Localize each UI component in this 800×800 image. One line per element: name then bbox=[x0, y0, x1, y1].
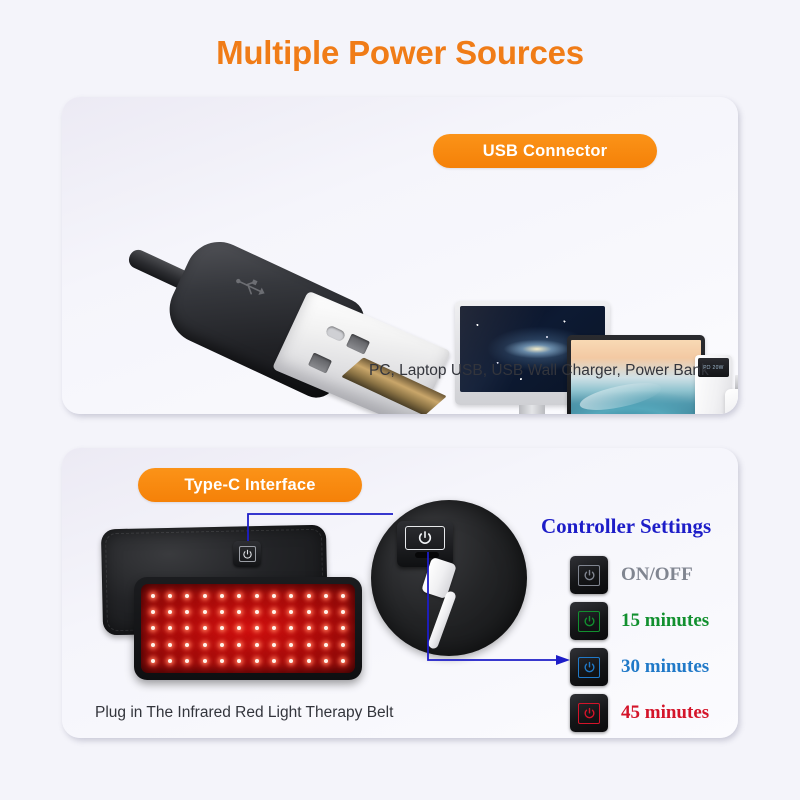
magnified-power-button-face bbox=[405, 526, 445, 550]
controller-setting-label: ON/OFF bbox=[621, 564, 693, 586]
led-dot bbox=[272, 659, 276, 663]
controller-button[interactable] bbox=[570, 648, 608, 686]
led-dot bbox=[185, 594, 189, 598]
led-dot bbox=[289, 643, 293, 647]
controller-settings-list: ON/OFF15 minutes30 minutes45 minutes bbox=[570, 552, 750, 736]
led-dot bbox=[324, 626, 328, 630]
led-dot bbox=[341, 610, 345, 614]
led-dot bbox=[324, 659, 328, 663]
led-dot bbox=[307, 626, 311, 630]
led-dot bbox=[168, 626, 172, 630]
led-dot bbox=[289, 594, 293, 598]
led-dot bbox=[203, 594, 207, 598]
controller-setting-row[interactable]: ON/OFF bbox=[570, 552, 750, 598]
led-dot bbox=[220, 610, 224, 614]
power-icon bbox=[583, 615, 596, 628]
led-dot bbox=[203, 626, 207, 630]
usb-connector-badge: USB Connector bbox=[433, 134, 657, 168]
led-dot bbox=[237, 594, 241, 598]
led-dot bbox=[341, 594, 345, 598]
controller-setting-row[interactable]: 45 minutes bbox=[570, 690, 750, 736]
power-icon bbox=[583, 569, 596, 582]
led-grid bbox=[141, 584, 355, 673]
led-dot bbox=[255, 659, 259, 663]
controller-button-face bbox=[578, 611, 600, 632]
controller-button[interactable] bbox=[570, 602, 608, 640]
led-dot bbox=[185, 626, 189, 630]
led-dot bbox=[151, 659, 155, 663]
led-dot bbox=[307, 643, 311, 647]
led-dot bbox=[324, 594, 328, 598]
led-dot bbox=[220, 643, 224, 647]
belt-power-button-face bbox=[239, 546, 256, 562]
led-dot bbox=[341, 659, 345, 663]
led-dot bbox=[151, 626, 155, 630]
power-icon bbox=[583, 661, 596, 674]
controller-button-face bbox=[578, 565, 600, 586]
led-dot bbox=[220, 626, 224, 630]
controller-setting-label: 30 minutes bbox=[621, 656, 709, 678]
controller-setting-row[interactable]: 30 minutes bbox=[570, 644, 750, 690]
led-dot bbox=[220, 659, 224, 663]
led-dot bbox=[324, 610, 328, 614]
led-dot bbox=[324, 643, 328, 647]
controller-button-face bbox=[578, 703, 600, 724]
type-c-cable bbox=[427, 590, 457, 650]
led-dot bbox=[203, 643, 207, 647]
belt-power-button[interactable] bbox=[233, 541, 261, 567]
controller-button[interactable] bbox=[570, 556, 608, 594]
led-dot bbox=[237, 610, 241, 614]
led-dot bbox=[237, 659, 241, 663]
led-dot bbox=[185, 610, 189, 614]
led-dot bbox=[289, 626, 293, 630]
led-dot bbox=[203, 659, 207, 663]
compatible-devices-illustration: PD 20W bbox=[447, 293, 738, 414]
led-dot bbox=[185, 643, 189, 647]
power-icon bbox=[242, 549, 253, 560]
led-dot bbox=[220, 594, 224, 598]
page-title: Multiple Power Sources bbox=[0, 34, 800, 72]
controller-setting-row[interactable]: 15 minutes bbox=[570, 598, 750, 644]
led-dot bbox=[237, 626, 241, 630]
led-dot bbox=[151, 643, 155, 647]
type-c-interface-badge: Type-C Interface bbox=[138, 468, 362, 502]
led-dot bbox=[185, 659, 189, 663]
type-c-port-magnifier bbox=[371, 500, 527, 656]
therapy-belt-led-panel bbox=[134, 577, 362, 680]
led-dot bbox=[341, 643, 345, 647]
led-dot bbox=[151, 610, 155, 614]
charger-prong-left bbox=[735, 375, 738, 390]
led-dot bbox=[168, 594, 172, 598]
led-dot bbox=[272, 594, 276, 598]
led-dot bbox=[255, 626, 259, 630]
led-dot bbox=[289, 659, 293, 663]
controller-button-face bbox=[578, 657, 600, 678]
led-dot bbox=[307, 594, 311, 598]
led-dot bbox=[272, 626, 276, 630]
led-dot bbox=[272, 643, 276, 647]
led-dot bbox=[203, 610, 207, 614]
power-icon bbox=[417, 530, 433, 546]
led-dot bbox=[168, 659, 172, 663]
led-dot bbox=[255, 594, 259, 598]
controller-setting-label: 15 minutes bbox=[621, 610, 709, 632]
monitor-stand-neck bbox=[519, 405, 545, 414]
therapy-belt-caption: Plug in The Infrared Red Light Therapy B… bbox=[95, 704, 393, 722]
power-icon bbox=[583, 707, 596, 720]
usb-wall-charger bbox=[725, 389, 738, 414]
led-dot bbox=[255, 610, 259, 614]
led-dot bbox=[168, 610, 172, 614]
led-dot bbox=[307, 659, 311, 663]
controller-setting-label: 45 minutes bbox=[621, 702, 709, 724]
led-dot bbox=[151, 594, 155, 598]
controller-settings-title: Controller Settings bbox=[541, 514, 711, 539]
led-dot bbox=[168, 643, 172, 647]
usb-devices-caption: PC, Laptop USB, USB Wall Charger, Power … bbox=[369, 362, 709, 380]
led-dot bbox=[307, 610, 311, 614]
led-dot bbox=[289, 610, 293, 614]
usb-a-connector-illustration bbox=[124, 197, 454, 414]
led-dot bbox=[272, 610, 276, 614]
led-dot bbox=[255, 643, 259, 647]
led-dot bbox=[341, 626, 345, 630]
led-dot bbox=[237, 643, 241, 647]
controller-button[interactable] bbox=[570, 694, 608, 732]
